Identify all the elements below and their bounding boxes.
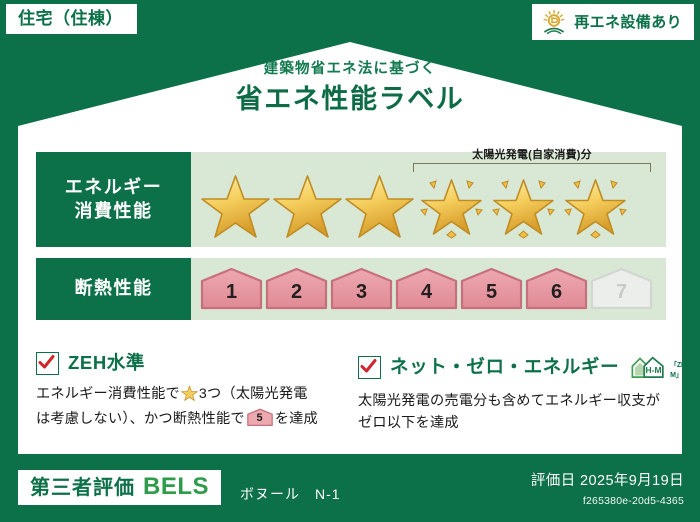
net-zero-criteria-title: ネット・ゼロ・エネルギー — [390, 358, 619, 377]
energy-performance-label-box: エネルギー 消費性能 — [36, 152, 191, 247]
inline-star-icon — [181, 384, 198, 408]
energy-stars-area: 太陽光発電(自家消費)分 — [191, 152, 666, 247]
insulation-performance-label-box: 断熱性能 — [36, 258, 191, 320]
insulation-grade-scale: 1 2 3 4 — [191, 267, 653, 311]
renewable-equipment-badge: 再エネ設備あり — [532, 4, 694, 40]
label-subtitle: 建築物省エネ法に基づく — [0, 62, 700, 77]
insulation-performance-row: 断熱性能 1 2 — [36, 258, 666, 320]
insulation-grades-area: 1 2 3 4 — [191, 258, 666, 320]
net-zero-criteria-header: ネット・ゼロ・エネルギー H-M 「ZEH-M」 — [358, 352, 668, 382]
evaluation-date-label: 評価日 — [531, 473, 576, 489]
grade-badge-1: 1 — [200, 267, 263, 311]
energy-performance-label: 住宅（住棟） 再エネ設備あり 建築物省エ — [0, 0, 700, 522]
grade-badge-7: 7 — [590, 267, 653, 311]
inline-grade-badge: 5 — [247, 408, 273, 427]
zeh-text-part1: エネルギー消費性能で — [36, 386, 180, 402]
label-main-title: 省エネ性能ラベル — [0, 86, 700, 113]
zeh-text-part4: を達成 — [275, 411, 318, 427]
zeh-criteria-text: エネルギー消費性能で3つ（太陽光発電は考慮しない）、かつ断熱性能で5を達成 — [36, 383, 336, 430]
solar-sun-icon — [541, 9, 567, 35]
grade-badge-5: 5 — [460, 267, 523, 311]
property-name: ボヌール N-1 — [240, 484, 341, 504]
grade-badge-2: 2 — [265, 267, 328, 311]
building-type-tag: 住宅（住棟） — [6, 4, 137, 34]
zeh-m-house-icon: H-M — [629, 352, 668, 382]
renewable-badge-label: 再エネ設備あり — [574, 15, 682, 30]
net-zero-criteria-block: ネット・ゼロ・エネルギー H-M 「ZEH-M」 太陽光発電の売電分も含めてエネ… — [358, 352, 668, 434]
star-filled-1 — [200, 167, 271, 239]
grade-value-4: 4 — [395, 267, 458, 311]
grade-value-1: 1 — [200, 267, 263, 311]
grade-value-7: 7 — [590, 267, 653, 311]
insulation-label: 断熱性能 — [75, 277, 153, 300]
net-zero-checkbox[interactable] — [358, 356, 381, 379]
solar-note-text: 太陽光発電(自家消費)分 — [407, 150, 657, 161]
grade-badge-4: 4 — [395, 267, 458, 311]
grade-value-3: 3 — [330, 267, 393, 311]
zeh-criteria-block: ZEH水準 エネルギー消費性能で3つ（太陽光発電は考慮しない）、かつ断熱性能で5… — [36, 352, 336, 430]
check-icon — [360, 358, 377, 375]
grade-badge-3: 3 — [330, 267, 393, 311]
grade-value-5: 5 — [460, 267, 523, 311]
star-solar-6 — [560, 167, 631, 239]
grade-value-6: 6 — [525, 267, 588, 311]
label-title-block: 建築物省エネ法に基づく 省エネ性能ラベル — [0, 62, 700, 113]
zeh-m-logo-caption: 「ZEH-M」 — [670, 360, 699, 382]
zeh-text-part3: は考慮しない）、かつ断熱性能で — [36, 411, 245, 427]
third-party-label: 第三者評価 — [30, 478, 135, 498]
certificate-id: f265380e-20d5-4365 — [531, 496, 684, 507]
inline-grade-value: 5 — [247, 408, 273, 427]
energy-star-rating — [191, 167, 631, 239]
zeh-text-part2: 3つ（太陽光発電 — [199, 386, 308, 402]
energy-label-line2: 消費性能 — [75, 200, 153, 223]
evaluation-info: 評価日 2025年9月19日 f265380e-20d5-4365 — [531, 474, 684, 506]
zeh-m-logo: H-M 「ZEH-M」 — [629, 352, 699, 382]
bels-label: BELS — [143, 475, 209, 499]
bels-tag: 第三者評価 BELS — [18, 470, 221, 505]
star-solar-5 — [488, 167, 559, 239]
evaluation-date: 評価日 2025年9月19日 — [531, 474, 684, 489]
zeh-checkbox[interactable] — [36, 352, 59, 375]
energy-label-line1: エネルギー — [65, 176, 163, 199]
energy-performance-row: エネルギー 消費性能 太陽光発電(自家消費)分 — [36, 152, 666, 247]
zeh-criteria-header: ZEH水準 — [36, 352, 336, 375]
star-filled-2 — [272, 167, 343, 239]
net-zero-criteria-text: 太陽光発電の売電分も含めてエネルギー収支がゼロ以下を達成 — [358, 390, 668, 434]
check-icon — [38, 354, 55, 371]
grade-badge-6: 6 — [525, 267, 588, 311]
evaluation-date-value: 2025年9月19日 — [580, 473, 684, 489]
star-filled-3 — [344, 167, 415, 239]
label-footer: 第三者評価 BELS ボヌール N-1 評価日 2025年9月19日 f2653… — [0, 462, 700, 522]
star-solar-4 — [416, 167, 487, 239]
zeh-criteria-title: ZEH水準 — [68, 354, 145, 373]
svg-text:H-M: H-M — [646, 365, 662, 375]
grade-value-2: 2 — [265, 267, 328, 311]
